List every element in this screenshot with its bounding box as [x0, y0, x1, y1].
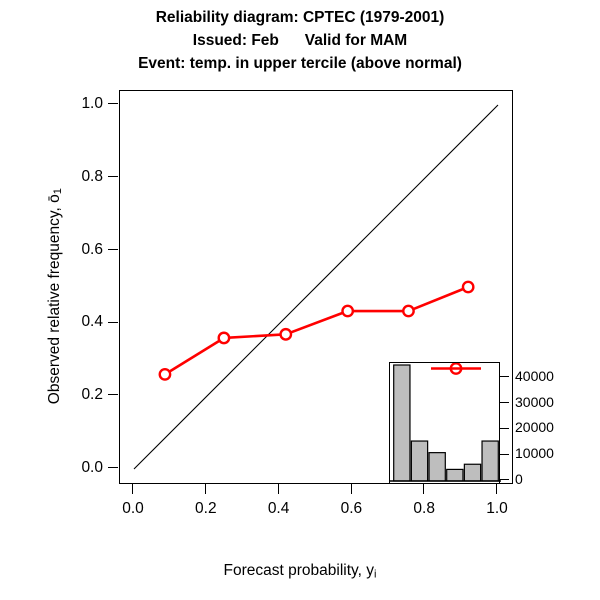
y-axis-tick-label: 0.2 [81, 386, 103, 404]
y-axis-tick-mark [108, 467, 118, 468]
inset-histogram-canvas [390, 363, 501, 485]
curve-segment [408, 287, 468, 311]
inset-y-axis-tick-label: 0 [515, 471, 523, 487]
y-axis-tick-label: 0.4 [81, 313, 103, 331]
inset-y-axis-tick-label: 30000 [515, 394, 554, 410]
y-axis-label-text: Observed relative frequency, o [46, 194, 63, 404]
x-axis-tick-mark [351, 484, 352, 494]
inset-y-axis-tick-label: 40000 [515, 368, 554, 384]
x-axis-tick-label: 0.4 [249, 500, 309, 518]
x-axis-tick-mark [132, 484, 133, 494]
title-line-3: Event: temp. in upper tercile (above nor… [0, 52, 600, 75]
y-axis-tick-mark [108, 249, 118, 250]
curve-segment [165, 338, 224, 374]
data-point-marker [463, 282, 473, 292]
x-axis-tick-mark [278, 484, 279, 494]
inset-y-axis-tick-mark [500, 428, 509, 429]
data-point-marker [219, 333, 229, 343]
x-axis-tick-mark [423, 484, 424, 494]
title-line-2: Issued: Feb Valid for MAM [0, 29, 600, 52]
x-axis-tick-label: 0.2 [176, 500, 236, 518]
inset-y-axis-tick-mark [500, 402, 509, 403]
y-axis-tick-label: 0.8 [81, 168, 103, 186]
curve-segment [224, 334, 286, 338]
x-axis-tick-label: 0.0 [103, 500, 163, 518]
data-point-marker [403, 306, 413, 316]
y-axis-tick-mark [108, 394, 118, 395]
x-axis-tick-mark [496, 484, 497, 494]
inset-y-axis-tick-label: 20000 [515, 419, 554, 435]
inset-y-axis-tick-label: 10000 [515, 445, 554, 461]
histogram-bars [390, 365, 501, 481]
histogram-bar [447, 469, 463, 481]
title-line-1: Reliability diagram: CPTEC (1979-2001) [0, 6, 600, 29]
histogram-bar [482, 441, 498, 481]
figure-title-block: Reliability diagram: CPTEC (1979-2001) I… [0, 6, 600, 75]
y-axis-label: Observed relative frequency, ō1 [46, 96, 64, 496]
inset-y-axis-tick-mark [500, 454, 509, 455]
histogram-bar [411, 441, 427, 481]
x-axis-label-text: Forecast probability, y [224, 562, 374, 579]
inset-y-axis-tick-mark [500, 376, 509, 377]
data-point-marker [281, 329, 291, 339]
y-axis-tick-mark [108, 176, 118, 177]
histogram-bar [429, 453, 445, 481]
inset-y-axis-tick-mark [500, 479, 509, 480]
x-axis-tick-label: 0.8 [394, 500, 454, 518]
y-axis-tick-mark [108, 322, 118, 323]
data-point-marker [342, 306, 352, 316]
y-axis-tick-mark [108, 103, 118, 104]
y-axis-tick-label: 1.0 [81, 95, 103, 113]
histogram-bar [464, 464, 480, 481]
x-axis-tick-label: 0.6 [321, 500, 381, 518]
histogram-bar [394, 365, 410, 481]
x-axis-label-subscript: i [374, 568, 376, 580]
inset-histogram-frame [389, 362, 500, 484]
reliability-diagram-figure: Reliability diagram: CPTEC (1979-2001) I… [0, 0, 600, 600]
curve-segment [286, 311, 348, 334]
y-axis-tick-label: 0.6 [81, 241, 103, 259]
y-axis-tick-label: 0.0 [81, 459, 103, 477]
inset-legend-marker [431, 363, 481, 373]
x-axis-tick-label: 1.0 [467, 500, 527, 518]
y-axis-label-subscript: 1 [52, 188, 64, 194]
x-axis-label: Forecast probability, yi [0, 562, 600, 580]
x-axis-tick-mark [205, 484, 206, 494]
data-point-marker [160, 369, 170, 379]
